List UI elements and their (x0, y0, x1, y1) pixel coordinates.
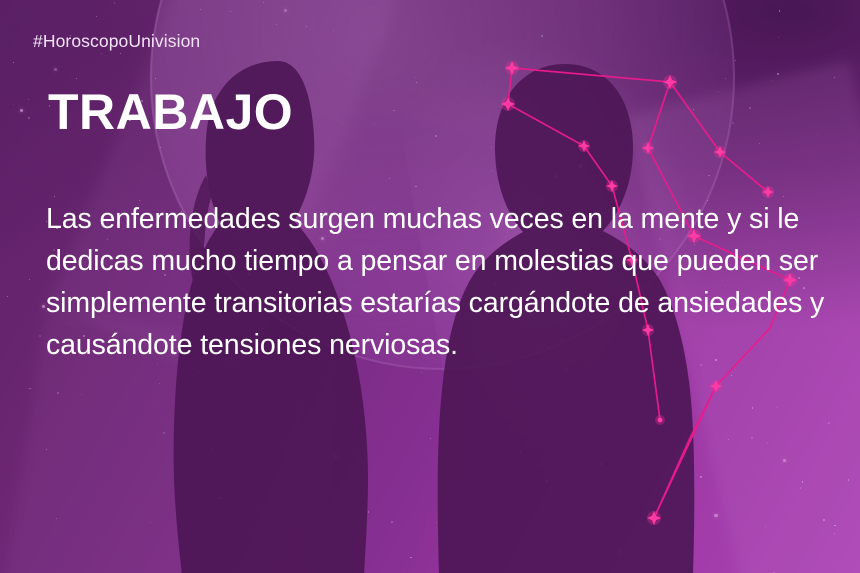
hashtag-label: #HoroscopoUnivision (33, 31, 200, 52)
page-title: TRABAJO (48, 87, 293, 137)
poster-content: #HoroscopoUnivision TRABAJO Las enfermed… (0, 0, 860, 573)
horoscope-poster: #HoroscopoUnivision TRABAJO Las enfermed… (0, 0, 860, 573)
horoscope-body-text: Las enfermedades surgen muchas veces en … (46, 198, 836, 366)
